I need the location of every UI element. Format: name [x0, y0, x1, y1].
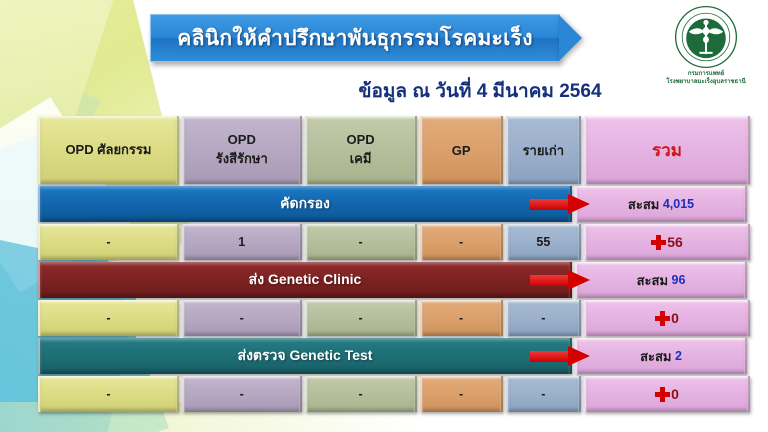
band-label-text: คัดกรอง — [280, 193, 330, 215]
organization-logo: กรมการแพทย์ โรงพยาบาลมะเร็งอุบลราชธานี — [650, 4, 762, 86]
cumulative-label: สะสม — [628, 194, 659, 215]
table-row-genetic-clinic-values: - - - - - 0 — [38, 300, 750, 336]
cell-gp: - — [420, 300, 503, 336]
banner-arrow-tip — [559, 15, 582, 61]
cell-opd-chemo: - — [305, 300, 417, 336]
red-cross-icon — [655, 387, 670, 402]
cell-total-new-screening: 56 — [584, 224, 750, 260]
cumulative-value: 4,015 — [663, 197, 694, 211]
ministry-seal-icon — [673, 4, 739, 70]
table-row-genetic-test-values: - - - - - 0 — [38, 376, 750, 412]
logo-caption-department: กรมการแพทย์ — [650, 71, 762, 79]
title-banner: คลินิกให้คำปรึกษาพันธุกรรมโรคมะเร็ง — [150, 14, 560, 62]
logo-caption-hospital: โรงพยาบาลมะเร็งอุบลราชธานี — [650, 79, 762, 87]
column-header-opd-chemo: OPD เคมี — [305, 116, 417, 184]
column-header-label: GP — [452, 143, 471, 158]
total-new-value: 0 — [671, 386, 679, 402]
cell-total-new-genetic-test: 0 — [584, 376, 750, 412]
column-header-existing-cases: รายเก่า — [506, 116, 581, 184]
cell-existing-cases: - — [506, 300, 581, 336]
column-header-gp: GP — [420, 116, 503, 184]
column-header-opd-radiation: OPD รังสีรักษา — [182, 116, 302, 184]
column-header-sublabel: รังสีรักษา — [216, 151, 268, 166]
section-band-label-genetic-clinic: ส่ง Genetic Clinic — [38, 262, 572, 298]
cumulative-label: สะสม — [640, 346, 671, 367]
page-title: คลินิกให้คำปรึกษาพันธุกรรมโรคมะเร็ง — [177, 22, 533, 55]
cell-gp: - — [420, 376, 503, 412]
table-row-screening-values: - 1 - - 55 56 — [38, 224, 750, 260]
data-as-of-date: ข้อมูล ณ วันที่ 4 มีนาคม 2564 — [330, 76, 630, 106]
column-header-total: รวม — [584, 116, 750, 184]
total-new-value: 56 — [667, 234, 683, 250]
cell-gp: - — [420, 224, 503, 260]
cell-opd-surgery: - — [38, 376, 179, 412]
cell-existing-cases: - — [506, 376, 581, 412]
column-header-label: รวม — [652, 137, 682, 164]
cumulative-value: 96 — [672, 273, 686, 287]
total-cumulative-genetic-test: สะสม 2 — [575, 338, 747, 374]
column-header-label: OPD — [347, 132, 375, 147]
total-new-value: 0 — [671, 310, 679, 326]
column-header-label: รายเก่า — [523, 140, 565, 161]
cell-total-new-genetic-clinic: 0 — [584, 300, 750, 336]
summary-table: OPD ศัลยกรรม OPD รังสีรักษา OPD เคมี GP … — [38, 116, 750, 414]
cell-opd-chemo: - — [305, 224, 417, 260]
total-cumulative-genetic-clinic: สะสม 96 — [575, 262, 747, 298]
red-cross-icon — [655, 311, 670, 326]
column-header-opd-surgery: OPD ศัลยกรรม — [38, 116, 179, 184]
section-band-label-genetic-test: ส่งตรวจ Genetic Test — [38, 338, 572, 374]
band-label-text: ส่ง Genetic Clinic — [249, 269, 362, 291]
cell-opd-surgery: - — [38, 300, 179, 336]
cell-opd-radiation: - — [182, 376, 302, 412]
cell-opd-radiation: - — [182, 300, 302, 336]
section-band-row-screening: คัดกรอง สะสม 4,015 — [38, 186, 750, 222]
cell-opd-chemo: - — [305, 376, 417, 412]
column-header-label: OPD ศัลยกรรม — [65, 142, 151, 157]
column-header-sublabel: เคมี — [350, 151, 372, 166]
cell-opd-radiation: 1 — [182, 224, 302, 260]
cell-opd-surgery: - — [38, 224, 179, 260]
cumulative-value: 2 — [675, 349, 682, 363]
cell-existing-cases: 55 — [506, 224, 581, 260]
band-label-text: ส่งตรวจ Genetic Test — [238, 345, 373, 367]
total-cumulative-screening: สะสม 4,015 — [575, 186, 747, 222]
column-header-label: OPD — [228, 132, 256, 147]
section-band-row-genetic-clinic: ส่ง Genetic Clinic สะสม 96 — [38, 262, 750, 298]
cumulative-label: สะสม — [637, 270, 668, 291]
section-band-label-screening: คัดกรอง — [38, 186, 572, 222]
red-cross-icon — [651, 235, 666, 250]
table-header-row: OPD ศัลยกรรม OPD รังสีรักษา OPD เคมี GP … — [38, 116, 750, 184]
section-band-row-genetic-test: ส่งตรวจ Genetic Test สะสม 2 — [38, 338, 750, 374]
